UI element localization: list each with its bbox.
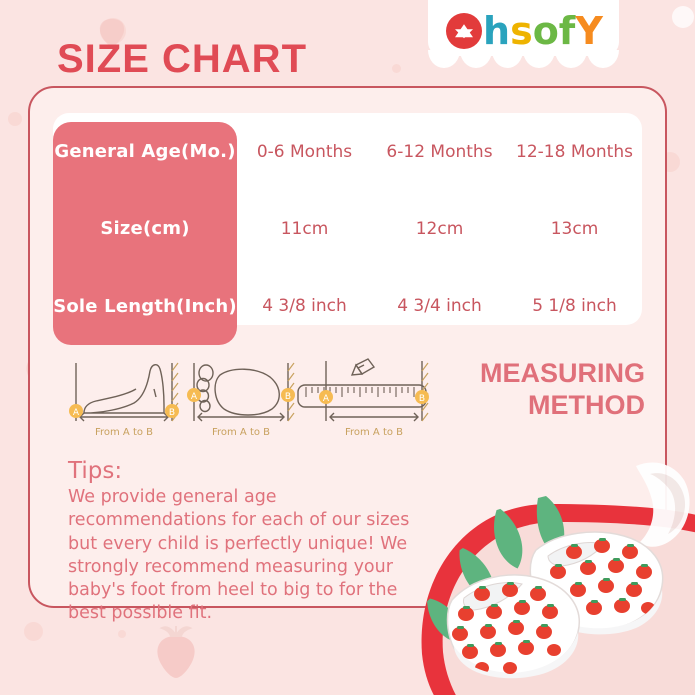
logo-letter-h: h bbox=[483, 12, 510, 50]
size-table: General Age(Mo.) 0-6 Months 6-12 Months … bbox=[53, 113, 642, 345]
size-chart-page: SIZE CHART h s o f Y General Age(Mo.) 0-… bbox=[0, 0, 695, 695]
measuring-title-line1: MEASURING bbox=[430, 358, 645, 390]
cell-age-12-18: 12-18 Months bbox=[507, 113, 642, 190]
ohsofy-logo[interactable]: h s o f Y bbox=[446, 8, 606, 54]
cell-sole-6-12: 4 3/4 inch bbox=[372, 268, 507, 345]
diagram-caption: From A to B bbox=[212, 427, 270, 438]
shoe-left bbox=[448, 575, 580, 678]
logo-letter-s: s bbox=[510, 12, 533, 50]
cell-age-0-6: 0-6 Months bbox=[237, 113, 372, 190]
tips-heading: Tips: bbox=[68, 458, 418, 484]
decor-dot bbox=[118, 630, 126, 638]
decor-dot bbox=[392, 64, 401, 73]
decor-dot bbox=[24, 622, 43, 641]
logo-letter-o-star-icon bbox=[446, 13, 482, 49]
row-header-general-age: General Age(Mo.) bbox=[53, 113, 237, 190]
cell-sole-0-6: 4 3/8 inch bbox=[237, 268, 372, 345]
headband-accessory bbox=[636, 462, 690, 546]
ruler-measure-diagram bbox=[298, 359, 428, 421]
decor-strawberry-icon bbox=[150, 620, 202, 680]
cell-size-12-18: 13cm bbox=[507, 190, 642, 267]
cell-sole-12-18: 5 1/8 inch bbox=[507, 268, 642, 345]
svg-text:B: B bbox=[419, 394, 425, 404]
diagram-caption: From A to B bbox=[345, 427, 403, 438]
decor-dot bbox=[672, 6, 694, 28]
measuring-diagrams: A B A B A B From A to B From A to B From… bbox=[62, 355, 432, 440]
foot-top-view-diagram bbox=[194, 363, 294, 421]
foot-side-view-diagram bbox=[76, 363, 178, 421]
svg-text:A: A bbox=[73, 408, 80, 418]
logo-letter-y: Y bbox=[575, 12, 603, 50]
decor-dot bbox=[8, 112, 22, 126]
svg-text:A: A bbox=[191, 392, 198, 402]
tips-block: Tips: We provide general age recommendat… bbox=[68, 458, 418, 626]
cell-size-0-6: 11cm bbox=[237, 190, 372, 267]
product-photo bbox=[398, 440, 695, 695]
cell-age-6-12: 6-12 Months bbox=[372, 113, 507, 190]
cell-size-6-12: 12cm bbox=[372, 190, 507, 267]
pencil-icon bbox=[352, 359, 374, 375]
measuring-title-line2: METHOD bbox=[430, 390, 645, 422]
measuring-method-title: MEASURING METHOD bbox=[430, 358, 645, 422]
svg-text:B: B bbox=[169, 408, 175, 418]
svg-text:B: B bbox=[285, 392, 291, 402]
page-title: SIZE CHART bbox=[57, 37, 307, 82]
row-header-sole-length: Sole Length(Inch) bbox=[53, 268, 237, 345]
tips-body: We provide general age recommendations f… bbox=[68, 486, 418, 626]
svg-text:A: A bbox=[323, 394, 330, 404]
row-header-size-cm: Size(cm) bbox=[53, 190, 237, 267]
diagram-caption: From A to B bbox=[95, 427, 153, 438]
baby-strawberry-shoes bbox=[398, 440, 695, 695]
logo-letter-o: o bbox=[533, 12, 559, 50]
logo-letter-f: f bbox=[559, 12, 576, 50]
